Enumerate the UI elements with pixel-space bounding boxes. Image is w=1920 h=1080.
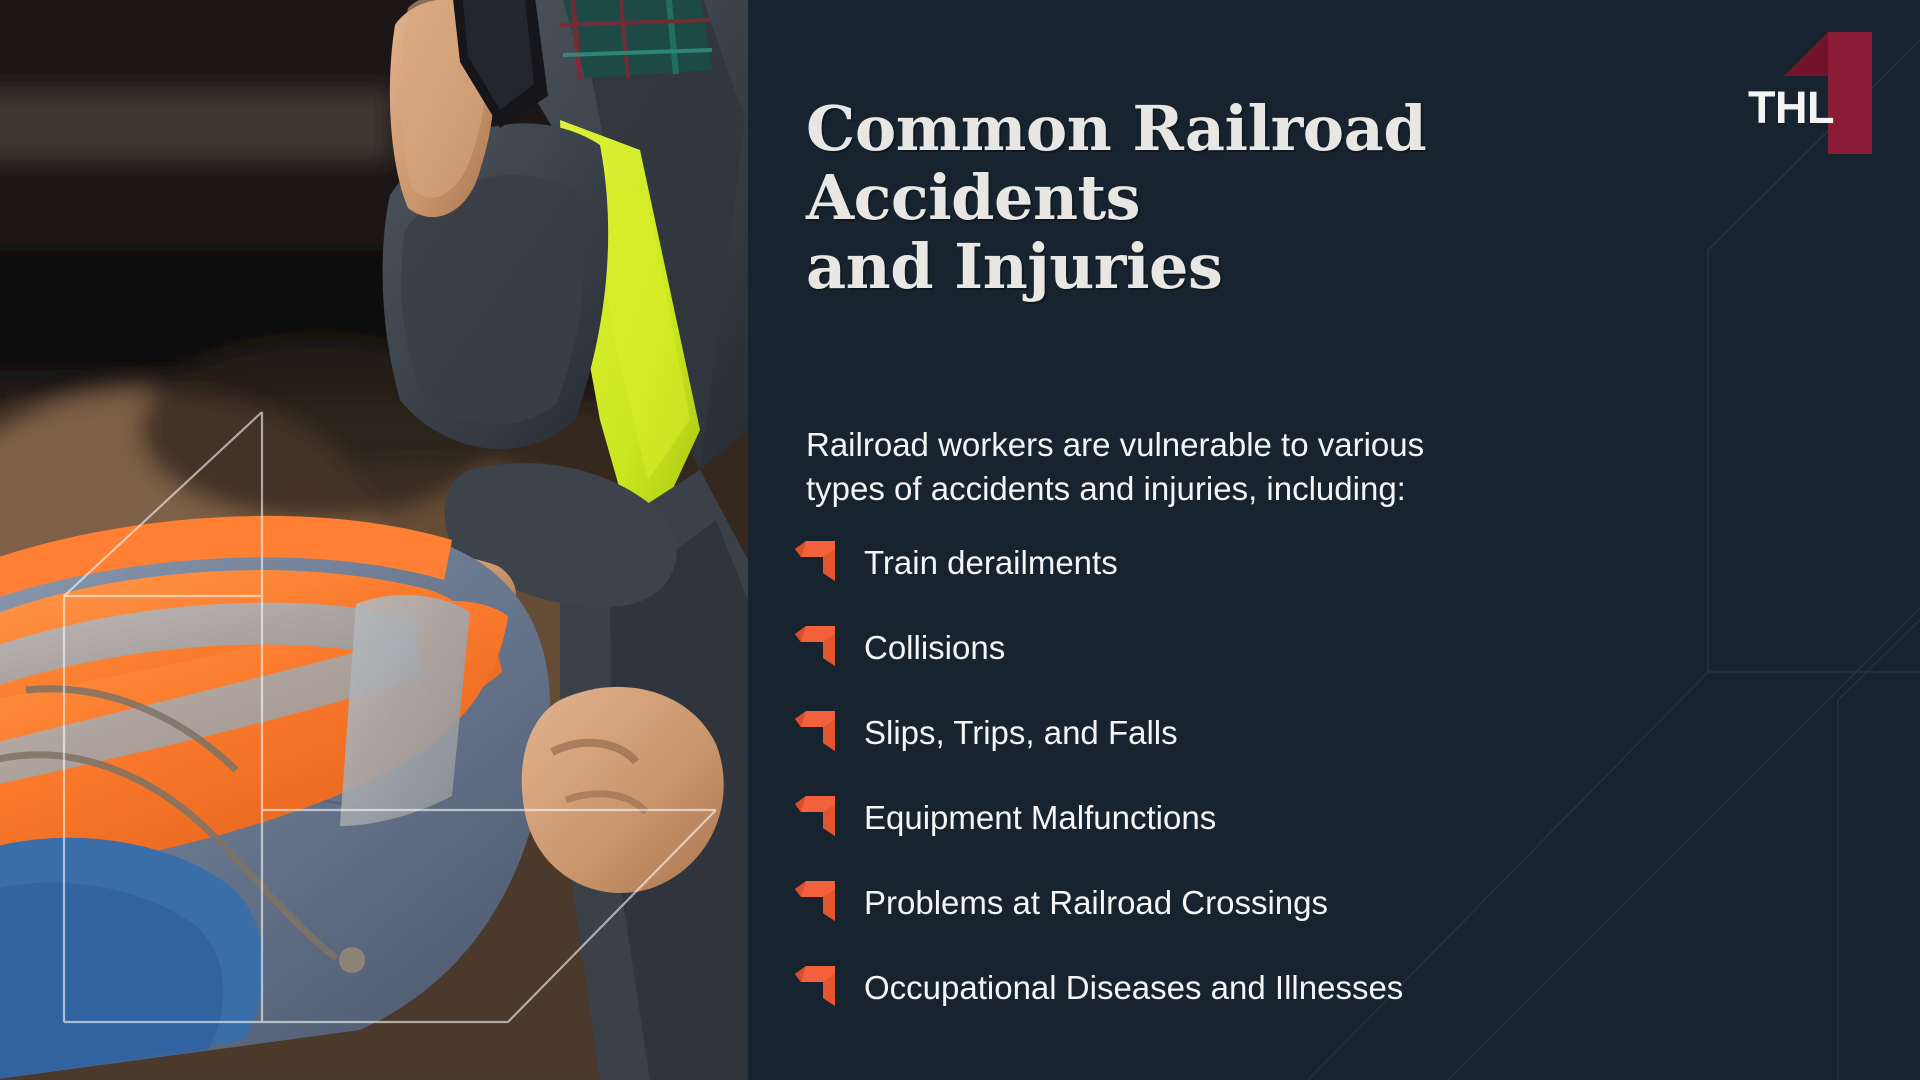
hero-photo	[0, 0, 748, 1080]
content-panel: THL Common Railroad Accidents and Injuri…	[748, 0, 1920, 1080]
page-subtitle: Railroad workers are vulnerable to vario…	[806, 423, 1566, 510]
list-item: Occupational Diseases and Illnesses	[792, 945, 1852, 1030]
infographic-card: THL Common Railroad Accidents and Injuri…	[0, 0, 1920, 1080]
list-item-label: Problems at Railroad Crossings	[864, 886, 1328, 919]
list-item: Slips, Trips, and Falls	[792, 690, 1852, 775]
arrow-corner-icon	[792, 623, 838, 669]
accident-types-list: Train derailments Collisions Slips, Trip…	[792, 520, 1852, 1030]
list-item: Problems at Railroad Crossings	[792, 860, 1852, 945]
list-item: Train derailments	[792, 520, 1852, 605]
arrow-corner-icon	[792, 793, 838, 839]
logo-wordmark: THL	[1748, 85, 1834, 130]
arrow-corner-icon	[792, 878, 838, 924]
list-item-label: Slips, Trips, and Falls	[864, 716, 1178, 749]
list-item-label: Train derailments	[864, 546, 1118, 579]
thl-logo[interactable]: THL	[1740, 32, 1872, 154]
arrow-corner-icon	[792, 538, 838, 584]
hero-photo-image	[0, 0, 748, 1080]
list-item: Equipment Malfunctions	[792, 775, 1852, 860]
arrow-corner-icon	[792, 963, 838, 1009]
list-item-label: Equipment Malfunctions	[864, 801, 1216, 834]
arrow-corner-icon	[792, 708, 838, 754]
list-item: Collisions	[792, 605, 1852, 690]
page-title: Common Railroad Accidents and Injuries	[806, 94, 1646, 302]
list-item-label: Collisions	[864, 631, 1005, 664]
list-item-label: Occupational Diseases and Illnesses	[864, 971, 1403, 1004]
